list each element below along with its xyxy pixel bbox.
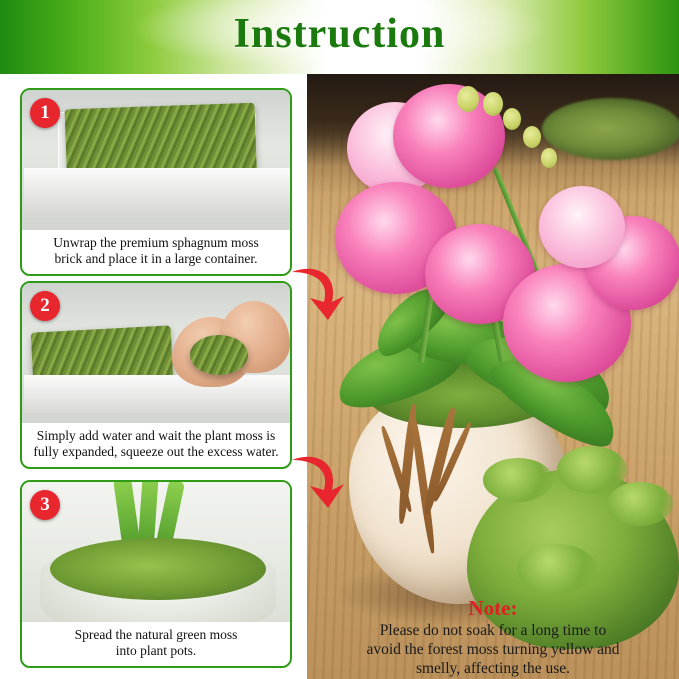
step-1-photo: 1	[22, 90, 290, 230]
moss-handful	[190, 335, 248, 375]
step-3-caption-line-2: into plant pots.	[28, 643, 284, 659]
step-2-caption-line-2: fully expanded, squeeze out the excess w…	[28, 444, 284, 460]
white-tray	[24, 375, 290, 413]
moss-tuft	[483, 458, 553, 502]
step-card-3: 3 Spread the natural green moss into pla…	[20, 480, 292, 668]
step-3-caption-line-1: Spread the natural green moss	[28, 627, 284, 643]
orchid-flower	[539, 186, 625, 268]
orchid-bud	[541, 148, 557, 168]
orchid-bud	[503, 108, 521, 130]
step-1-caption-line-1: Unwrap the premium sphagnum moss	[28, 235, 284, 251]
moss-tuft	[517, 544, 597, 594]
page-title: Instruction	[0, 10, 679, 58]
note-label: Note:	[469, 596, 518, 620]
step-badge-3: 3	[30, 490, 60, 520]
moss-tuft	[557, 446, 627, 494]
orchid-bud	[483, 92, 503, 116]
step-3-caption: Spread the natural green moss into plant…	[22, 622, 290, 666]
note-line-3: smelly, affecting the use.	[315, 659, 671, 678]
white-tray	[24, 168, 290, 212]
step-badge-2: 2	[30, 291, 60, 321]
step-2-caption-line-1: Simply add water and wait the plant moss…	[28, 428, 284, 444]
product-photo	[307, 74, 679, 679]
instruction-infographic: Instruction	[0, 0, 679, 679]
background-moss-patch	[542, 98, 679, 160]
moss-in-pot	[50, 538, 266, 600]
note-line-1: Please do not soak for a long time to	[315, 621, 671, 640]
note-text: Please do not soak for a long time toavo…	[315, 621, 671, 679]
step-1-caption: Unwrap the premium sphagnum moss brick a…	[22, 230, 290, 274]
step-2-caption: Simply add water and wait the plant moss…	[22, 423, 290, 467]
moss-tuft	[607, 482, 673, 526]
step-1-caption-line-2: brick and place it in a large container.	[28, 251, 284, 267]
orchid-bud	[523, 126, 541, 148]
header-banner: Instruction	[0, 0, 679, 74]
note-line-2: avoid the forest moss turning yellow and	[315, 640, 671, 659]
step-3-photo: 3	[22, 482, 290, 622]
step-card-2: 2 Simply add water and wait the plant mo…	[20, 281, 292, 469]
orchid-bud	[457, 86, 479, 112]
step-card-1: 1 Unwrap the premium sphagnum moss brick…	[20, 88, 292, 276]
step-badge-1: 1	[30, 98, 60, 128]
step-2-photo: 2	[22, 283, 290, 423]
note-block: Note:Please do not soak for a long time …	[307, 592, 679, 679]
